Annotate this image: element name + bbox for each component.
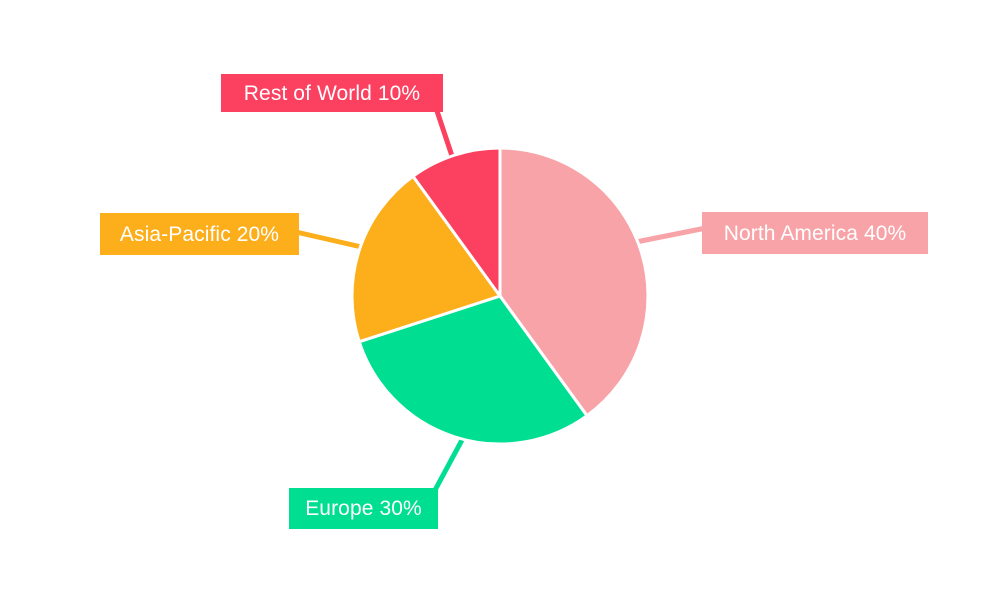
leader-line-asia-pacific xyxy=(296,232,366,248)
pie-label-rest-of-world-text: Rest of World 10% xyxy=(244,83,420,104)
pie-label-europe: Europe 30% xyxy=(289,488,438,529)
pie-label-asia-pacific-text: Asia-Pacific 20% xyxy=(120,224,279,245)
pie-label-north-america-text: North America 40% xyxy=(724,223,907,244)
pie-chart-canvas xyxy=(0,0,1000,600)
pie-label-asia-pacific: Asia-Pacific 20% xyxy=(100,213,299,255)
pie-label-europe-text: Europe 30% xyxy=(305,498,422,519)
pie-chart-figure: North America 40% Europe 30% Asia-Pacifi… xyxy=(0,0,1000,600)
pie-label-north-america: North America 40% xyxy=(702,212,928,254)
leader-line-europe xyxy=(434,440,462,492)
leader-line-north-america xyxy=(636,228,706,242)
pie-wedges xyxy=(352,148,648,444)
pie-label-rest-of-world: Rest of World 10% xyxy=(221,74,443,112)
